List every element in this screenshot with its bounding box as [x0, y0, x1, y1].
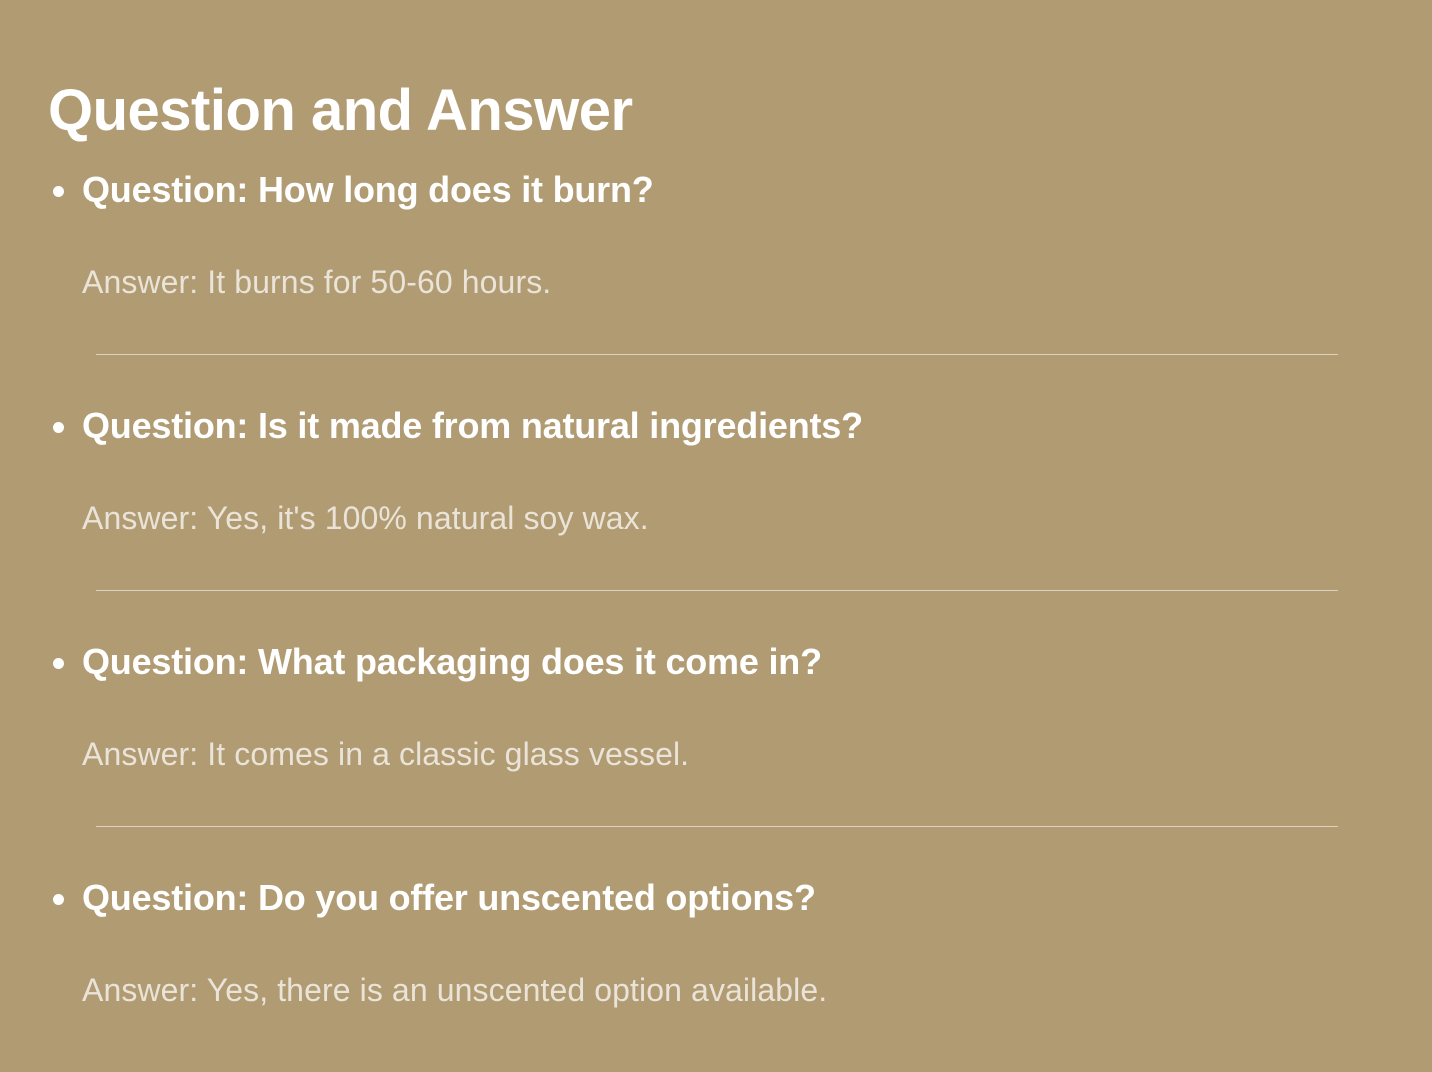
list-item: Question: How long does it burn? Answer:… — [0, 168, 1432, 355]
qa-question-text: Question: Is it made from natural ingred… — [82, 404, 1385, 448]
qa-divider — [96, 590, 1338, 591]
qa-question-row[interactable]: Question: Is it made from natural ingred… — [48, 404, 1385, 448]
qa-answer-text: Answer: Yes, there is an unscented optio… — [48, 970, 1385, 1010]
list-item: Question: Is it made from natural ingred… — [0, 404, 1432, 591]
bullet-dot-icon — [53, 658, 64, 669]
bullet-dot-icon — [53, 422, 64, 433]
qa-answer-text: Answer: It comes in a classic glass vess… — [48, 734, 1385, 774]
qa-page: Question and Answer Question: How long d… — [0, 0, 1432, 1072]
qa-question-text: Question: How long does it burn? — [82, 168, 1385, 212]
qa-question-text: Question: Do you offer unscented options… — [82, 876, 1385, 920]
bullet-dot-icon — [53, 894, 64, 905]
qa-divider — [96, 826, 1338, 827]
page-title: Question and Answer — [48, 81, 633, 142]
list-item: Question: Do you offer unscented options… — [0, 876, 1432, 1010]
qa-list: Question: How long does it burn? Answer:… — [0, 168, 1432, 1010]
qa-question-row[interactable]: Question: How long does it burn? — [48, 168, 1385, 212]
qa-answer-text: Answer: Yes, it's 100% natural soy wax. — [48, 498, 1385, 538]
qa-answer-text: Answer: It burns for 50-60 hours. — [48, 262, 1385, 302]
qa-question-text: Question: What packaging does it come in… — [82, 640, 1385, 684]
qa-question-row[interactable]: Question: Do you offer unscented options… — [48, 876, 1385, 920]
bullet-dot-icon — [53, 186, 64, 197]
list-item: Question: What packaging does it come in… — [0, 640, 1432, 827]
qa-question-row[interactable]: Question: What packaging does it come in… — [48, 640, 1385, 684]
qa-divider — [96, 354, 1338, 355]
